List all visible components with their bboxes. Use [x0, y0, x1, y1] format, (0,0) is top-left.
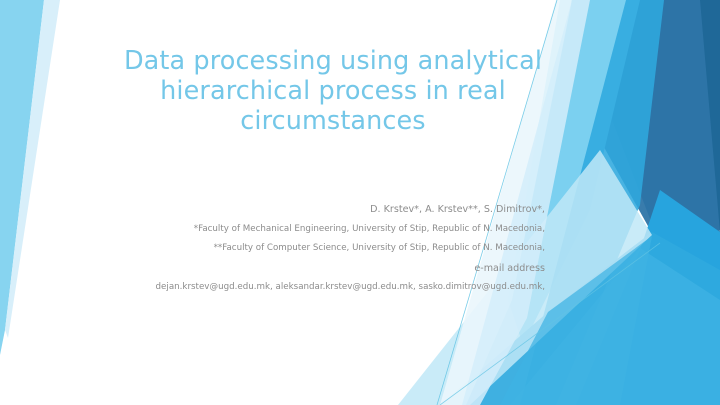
- title-line-2: hierarchical process in real: [108, 76, 558, 106]
- slide-content: Data processing using analytical hierarc…: [0, 0, 720, 405]
- presentation-slide: Data processing using analytical hierarc…: [0, 0, 720, 405]
- slide-title: Data processing using analytical hierarc…: [108, 46, 558, 136]
- slide-subtitle: D. Krstev*, A. Krstev**, S. Dimitrov*, *…: [60, 200, 545, 298]
- subtitle-affiliation-1: *Faculty of Mechanical Engineering, Univ…: [60, 220, 545, 240]
- subtitle-emails: dejan.krstev@ugd.edu.mk, aleksandar.krst…: [60, 278, 545, 298]
- subtitle-affiliation-2: **Faculty of Computer Science, Universit…: [60, 239, 545, 259]
- subtitle-authors: D. Krstev*, A. Krstev**, S. Dimitrov*,: [60, 200, 545, 220]
- subtitle-email-label: e-mail address: [60, 259, 545, 279]
- title-line-1: Data processing using analytical: [108, 46, 558, 76]
- title-line-3: circumstances: [108, 106, 558, 136]
